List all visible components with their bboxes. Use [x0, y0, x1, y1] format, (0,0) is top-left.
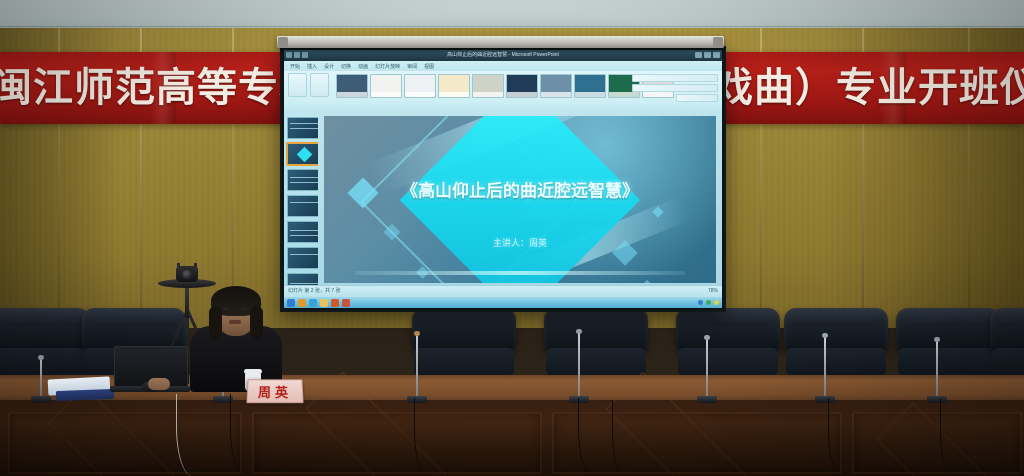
speaker-nameplate: 周英 — [246, 379, 303, 403]
slide-thumb-3[interactable] — [287, 169, 321, 191]
theme-thumb-4[interactable] — [438, 74, 470, 98]
ribbon-panel[interactable] — [284, 71, 722, 114]
ribbon-tab-2[interactable]: 设计 — [324, 63, 334, 70]
slide-thumb-6[interactable] — [287, 247, 321, 269]
slide-thumb-2-selected[interactable] — [287, 143, 321, 165]
chair-3 — [412, 308, 516, 380]
theme-gallery[interactable] — [336, 74, 674, 98]
quick-access-toolbar[interactable] — [286, 52, 308, 58]
save-icon[interactable] — [286, 52, 292, 58]
network-icon[interactable] — [698, 300, 703, 305]
ppt-title-bar: 高山仰止后的曲近腔远智慧 - Microsoft PowerPoint — [284, 50, 722, 61]
notification-icon[interactable] — [714, 300, 719, 305]
theme-thumb-8[interactable] — [574, 74, 606, 98]
chair-5 — [676, 308, 780, 380]
ppt-status-bar: 幻灯片 第 2 张，共 7 张 78% — [284, 285, 722, 297]
ribbon-tab-7[interactable]: 视图 — [424, 63, 434, 70]
ribbon-tab-6[interactable]: 审阅 — [407, 63, 417, 70]
banner-text-right: 戏曲）专业开班仪式 — [713, 52, 1024, 124]
ribbon-tab-3[interactable]: 切换 — [341, 63, 351, 70]
ribbon-tab-0[interactable]: 开始 — [290, 63, 300, 70]
maximize-icon[interactable] — [704, 52, 711, 58]
theme-thumb-6[interactable] — [506, 74, 538, 98]
slide-bottom-bar — [355, 271, 684, 275]
slide-orientation-button[interactable] — [310, 73, 329, 97]
close-icon[interactable] — [713, 52, 720, 58]
ribbon-tab-bar[interactable]: 开始 插入 设计 切换 动画 幻灯片放映 审阅 视图 — [284, 61, 722, 71]
media-icon[interactable] — [298, 299, 306, 307]
slide-editing-canvas[interactable]: 《高山仰止后的曲近腔远智慧》 主讲人：周英 — [318, 113, 722, 286]
slide-position-status: 幻灯片 第 2 张，共 7 张 — [288, 288, 341, 294]
ppt-window-title: 高山仰止后的曲近腔远智慧 - Microsoft PowerPoint — [447, 52, 559, 58]
page-setup-group[interactable] — [288, 73, 332, 107]
windows-taskbar[interactable] — [284, 297, 722, 308]
chair-4 — [544, 308, 648, 380]
conference-room-photo: 闽江师范高等专科学 戏曲）专业开班仪式 高山仰止后的曲近腔远智慧 - Micro… — [0, 0, 1024, 476]
background-group[interactable] — [632, 74, 718, 104]
video-camera — [176, 266, 198, 282]
globe-icon[interactable] — [309, 299, 317, 307]
speaker-person — [190, 288, 282, 392]
current-slide[interactable]: 《高山仰止后的曲近腔远智慧》 主讲人：周英 — [324, 116, 716, 283]
image-viewer-icon[interactable] — [342, 299, 350, 307]
hide-background-graphics-button[interactable] — [632, 84, 718, 92]
slide-subtitle-text: 主讲人：周英 — [324, 236, 716, 249]
slide-thumb-1[interactable] — [287, 117, 321, 139]
ribbon-tab-1[interactable]: 插入 — [307, 63, 317, 70]
powerpoint-window[interactable]: 高山仰止后的曲近腔远智慧 - Microsoft PowerPoint 开始 插… — [284, 50, 722, 308]
camera-lens-icon — [182, 270, 192, 279]
projection-screen-roller — [277, 36, 724, 48]
background-styles-button[interactable] — [632, 74, 718, 82]
projection-screen: 高山仰止后的曲近腔远智慧 - Microsoft PowerPoint 开始 插… — [280, 46, 726, 312]
window-controls[interactable] — [695, 52, 720, 58]
folder-icon[interactable] — [320, 299, 328, 307]
background-dialog-launcher[interactable] — [676, 94, 718, 102]
speaker-hand — [148, 378, 170, 390]
ribbon-tab-5[interactable]: 幻灯片放映 — [375, 63, 400, 70]
blue-folder — [56, 389, 114, 401]
chair-6 — [784, 308, 888, 380]
slide-thumb-5[interactable] — [287, 221, 321, 243]
undo-icon[interactable] — [294, 52, 300, 58]
nameplate-text: 周英 — [258, 382, 293, 401]
redo-icon[interactable] — [302, 52, 308, 58]
volume-icon[interactable] — [706, 300, 711, 305]
chair-7 — [896, 308, 1000, 380]
theme-thumb-5[interactable] — [472, 74, 504, 98]
system-tray[interactable] — [698, 300, 719, 305]
browser-icon[interactable] — [287, 299, 295, 307]
ribbon-tab-4[interactable]: 动画 — [358, 63, 368, 70]
chair-8 — [990, 308, 1024, 380]
theme-thumb-2[interactable] — [370, 74, 402, 98]
chair-1 — [0, 308, 90, 380]
theme-thumb-1[interactable] — [336, 74, 368, 98]
theme-thumb-7[interactable] — [540, 74, 572, 98]
theme-thumb-3[interactable] — [404, 74, 436, 98]
page-setup-button[interactable] — [288, 73, 307, 97]
slide-thumb-4[interactable] — [287, 195, 321, 217]
table-front-shading — [0, 400, 1024, 476]
powerpoint-icon[interactable] — [331, 299, 339, 307]
slide-title-text: 《高山仰止后的曲近腔远智慧》 — [324, 177, 716, 202]
minimize-icon[interactable] — [695, 52, 702, 58]
zoom-level-status[interactable]: 78% — [708, 286, 718, 297]
